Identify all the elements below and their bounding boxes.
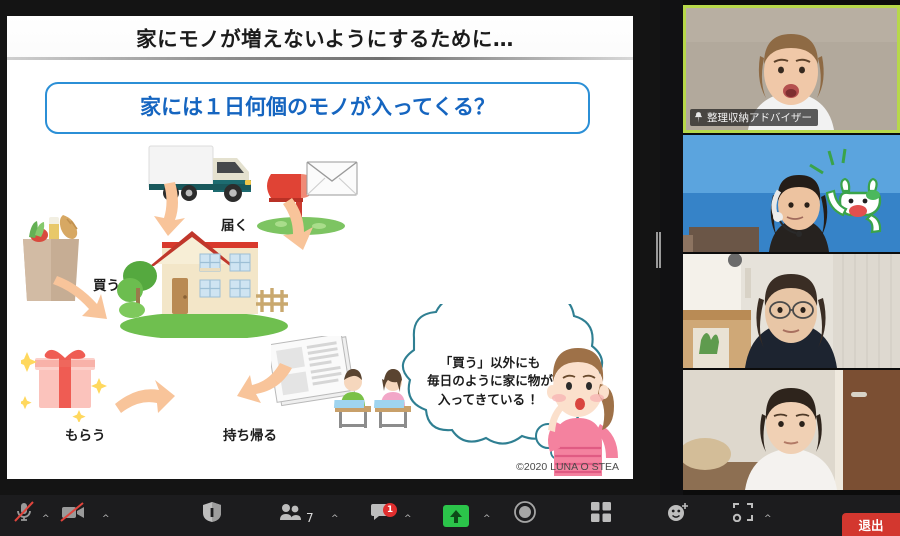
slide-diagram: 買う [7, 136, 633, 479]
audio-options-caret[interactable]: ^ [42, 515, 50, 524]
smiley-plus-icon [667, 502, 689, 522]
record-circle-icon [514, 501, 536, 523]
shield-icon [202, 501, 222, 523]
panel-drag-handle[interactable] [655, 232, 661, 268]
chat-caret[interactable]: ^ [404, 515, 412, 524]
breakout-rooms-icon [733, 502, 753, 522]
video-tile-speaker[interactable]: 整理収納アドバイザー [683, 5, 900, 133]
slide-question-box: 家には１日何個のモノが入ってくる？ [45, 82, 590, 134]
share-screen-button[interactable] [443, 505, 469, 527]
share-screen-arrow-icon [443, 505, 469, 527]
slide-title: 家にモノが増えないようにするために… [7, 22, 633, 52]
video-options-caret[interactable]: ^ [102, 515, 110, 524]
apps-button[interactable] [591, 502, 611, 526]
microphone-muted-icon [12, 500, 36, 524]
video-tile-2[interactable] [683, 135, 900, 252]
participants-caret[interactable]: ^ [331, 515, 339, 524]
shared-screen-area[interactable]: 家にモノが増えないようにするために… 家には１日何個のモノが入ってくる？ [0, 0, 660, 495]
video-tile-3[interactable] [683, 254, 900, 368]
slide-question-text: 家には１日何個のモノが入ってくる？ [47, 84, 588, 131]
presentation-slide: 家にモノが増えないようにするために… 家には１日何個のモノが入ってくる？ [7, 16, 633, 479]
video-camera-off-icon [60, 501, 86, 523]
participant-filmstrip: 整理収納アドバイザー [683, 0, 900, 495]
grid-apps-icon [591, 502, 611, 522]
reactions-button[interactable] [667, 502, 689, 526]
breakout-rooms-button[interactable] [733, 502, 753, 526]
video-tile-4[interactable] [683, 370, 900, 490]
zoom-meeting-window: 家にモノが増えないようにするために… 家には１日何個のモノが入ってくる？ [0, 0, 900, 536]
chat-unread-badge: 1 [383, 503, 397, 517]
participants-icon [279, 503, 303, 521]
breakout-caret[interactable]: ^ [764, 515, 772, 524]
participants-count: 7 [306, 511, 314, 525]
mute-audio-button[interactable] [12, 500, 36, 528]
pin-icon [694, 112, 703, 123]
participants-button[interactable] [279, 503, 303, 525]
share-options-caret[interactable]: ^ [483, 515, 491, 524]
slide-header: 家にモノが増えないようにするために… [7, 16, 633, 60]
security-button[interactable] [202, 501, 222, 527]
meeting-toolbar: ^ ^ 7 ^ [0, 495, 900, 536]
participant-name: 整理収納アドバイザー [707, 110, 812, 125]
thinking-woman-illustration [532, 326, 624, 476]
participant-name-badge: 整理収納アドバイザー [690, 109, 818, 126]
slide-header-rule [7, 57, 633, 60]
leave-meeting-button[interactable]: 退出 [842, 513, 900, 536]
slide-copyright: ©2020 LUNA O STEA [516, 461, 619, 473]
stop-video-button[interactable] [60, 501, 86, 527]
record-button[interactable] [514, 501, 536, 527]
